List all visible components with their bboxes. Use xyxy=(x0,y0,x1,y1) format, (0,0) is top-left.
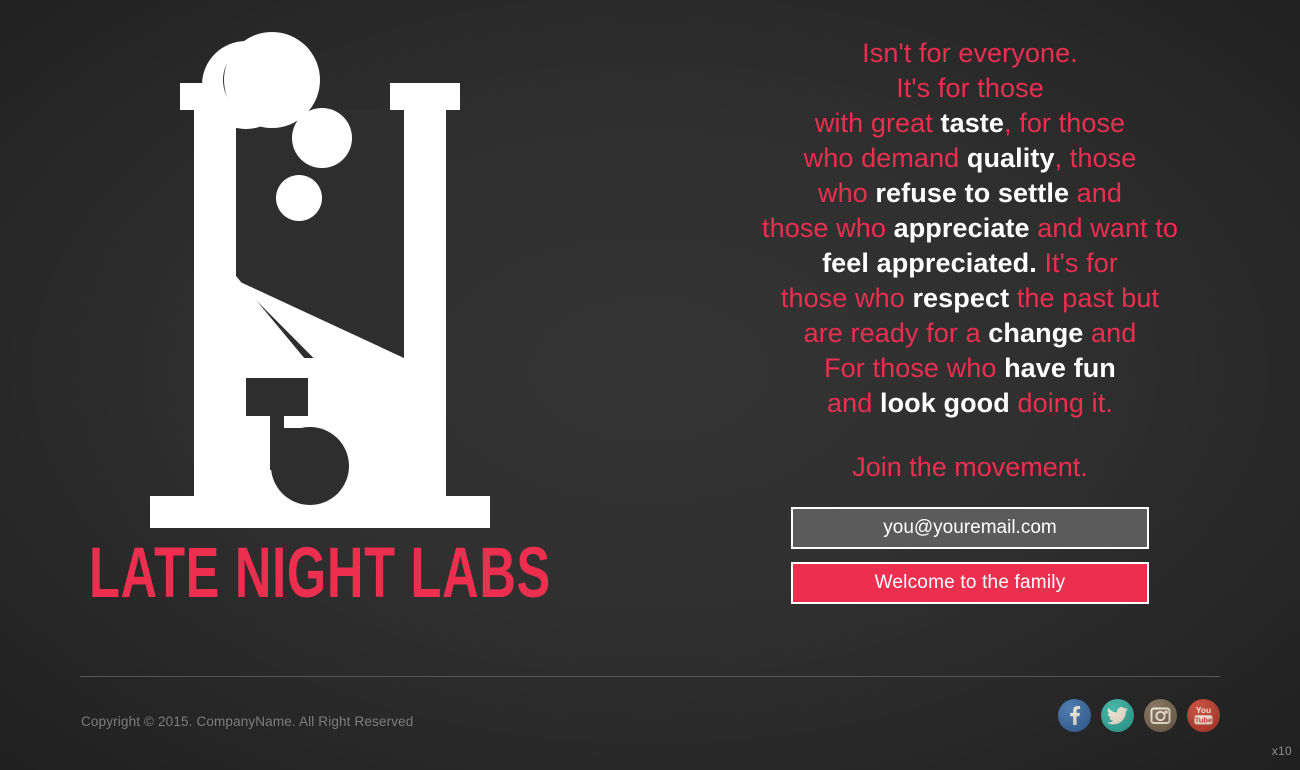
tagline-run: look good xyxy=(880,388,1010,418)
footer: Copyright © 2015. CompanyName. All Right… xyxy=(0,690,1300,770)
tagline-line: who demand quality, those xyxy=(750,141,1190,176)
email-input[interactable] xyxy=(791,507,1149,549)
tagline-run: taste xyxy=(940,108,1004,138)
signup-form: Welcome to the family xyxy=(791,507,1149,604)
tagline-run: For those who xyxy=(824,353,1004,383)
scale-badge: x10 xyxy=(1272,744,1292,758)
facebook-icon[interactable] xyxy=(1058,699,1091,732)
tagline-run: the past but xyxy=(1009,283,1159,313)
tagline-run: quality xyxy=(967,143,1055,173)
tagline-run: It's for those xyxy=(896,73,1044,103)
tagline-line: and look good doing it. xyxy=(750,386,1190,421)
tagline-line: It's for those xyxy=(750,71,1190,106)
wordmark: LATE NIGHT LABS xyxy=(85,534,555,612)
tagline-run: , those xyxy=(1055,143,1137,173)
join-heading: Join the movement. xyxy=(750,450,1190,484)
copy-column: Isn't for everyone.It's for thosewith gr… xyxy=(640,0,1300,604)
social-links: YouTube xyxy=(1058,699,1220,732)
footer-divider xyxy=(80,676,1220,677)
tagline-run: and want to xyxy=(1030,213,1178,243)
tagline-run: doing it. xyxy=(1010,388,1113,418)
tagline-line: with great taste, for those xyxy=(750,106,1190,141)
tagline-run: and xyxy=(1069,178,1122,208)
svg-text:You: You xyxy=(1196,705,1211,715)
tagline-run: have fun xyxy=(1004,353,1116,383)
twitter-icon[interactable] xyxy=(1101,699,1134,732)
tagline-run: and xyxy=(827,388,880,418)
submit-button[interactable]: Welcome to the family xyxy=(791,562,1149,604)
hero-section: LATE NIGHT LABS Isn't for everyone.It's … xyxy=(0,0,1300,672)
tagline-run: are ready for a xyxy=(804,318,989,348)
tagline-line: Isn't for everyone. xyxy=(750,36,1190,71)
svg-text:Tube: Tube xyxy=(1195,715,1213,724)
tagline-line: feel appreciated. It's for xyxy=(750,246,1190,281)
instagram-icon[interactable] xyxy=(1144,699,1177,732)
tagline-run: respect xyxy=(912,283,1009,313)
tagline-run: who demand xyxy=(804,143,967,173)
tagline-line: those who appreciate and want to xyxy=(750,211,1190,246)
tagline-line: those who respect the past but xyxy=(750,281,1190,316)
landing-page: LATE NIGHT LABS Isn't for everyone.It's … xyxy=(0,0,1300,770)
copyright-text: Copyright © 2015. CompanyName. All Right… xyxy=(81,714,413,729)
tagline-run: and xyxy=(1083,318,1136,348)
late-night-labs-flask-moon-logo xyxy=(150,28,490,528)
tagline-run: feel appreciated. xyxy=(822,248,1037,278)
tagline-run: with great xyxy=(815,108,941,138)
brand-column: LATE NIGHT LABS xyxy=(0,0,640,612)
tagline-run: Isn't for everyone. xyxy=(862,38,1078,68)
wordmark-text: LATE NIGHT LABS xyxy=(89,534,551,612)
youtube-icon[interactable]: YouTube xyxy=(1187,699,1220,732)
tagline-line: For those who have fun xyxy=(750,351,1190,386)
tagline-line: are ready for a change and xyxy=(750,316,1190,351)
tagline-run: those who xyxy=(762,213,894,243)
tagline-run: those who xyxy=(781,283,913,313)
tagline-line: who refuse to settle and xyxy=(750,176,1190,211)
tagline-run: refuse to settle xyxy=(875,178,1069,208)
tagline-run: It's for xyxy=(1037,248,1118,278)
tagline-paragraph: Isn't for everyone.It's for thosewith gr… xyxy=(750,36,1190,421)
tagline-run: who xyxy=(818,178,875,208)
tagline-run: appreciate xyxy=(894,213,1030,243)
tagline-run: , for those xyxy=(1004,108,1125,138)
tagline-run: change xyxy=(988,318,1083,348)
